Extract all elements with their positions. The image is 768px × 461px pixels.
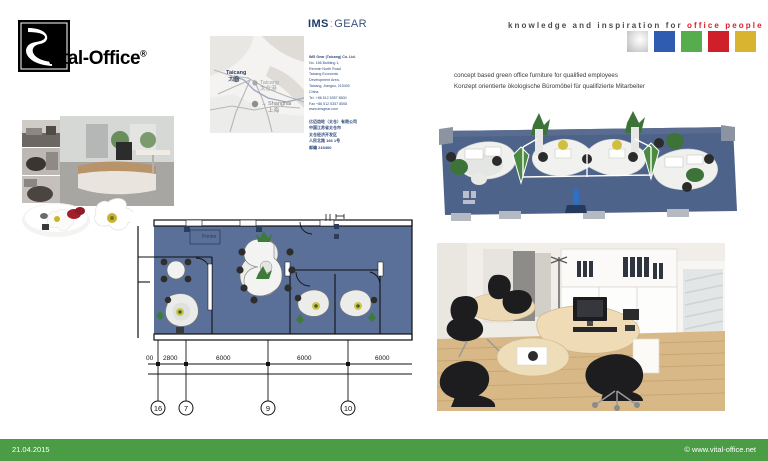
color-swatch-row	[627, 31, 756, 52]
concept-caption: concept based green office furniture for…	[454, 71, 645, 93]
grid-mark-9: 9	[266, 404, 270, 413]
office-3d-render	[437, 107, 747, 225]
map-label-secondary-cn: 太仓港	[260, 86, 277, 92]
logo-word-sub: Office	[89, 48, 140, 69]
collage-thumb-1	[22, 120, 60, 147]
concept-line-de: Konzept orientierte ökologische Büromöbe…	[454, 82, 645, 93]
address-cn-line-5: 邮编 215400	[309, 145, 375, 151]
ims-gear-logo: IMS:GEAR	[308, 18, 367, 30]
office-interior-photo	[437, 243, 725, 411]
registered-mark: ®	[140, 49, 146, 59]
floor-plan: Printer 00 2800 6000 6000 6	[130, 212, 418, 422]
organic-furniture-render	[22, 194, 142, 240]
footer-bar: 21.04.2015 © www.vital-office.net	[0, 439, 768, 461]
dimension-4: 6000	[375, 355, 390, 362]
vital-office-wordmark: Vital-Office®	[45, 48, 146, 70]
vital-office-logo: Vital-Office®	[18, 20, 136, 72]
footer-copyright[interactable]: © www.vital-office.net	[684, 445, 756, 454]
tagline-highlight: office people	[687, 21, 764, 30]
footer-date: 21.04.2015	[12, 445, 50, 454]
logo-word-main: Vital-	[45, 48, 89, 69]
photo-collage	[22, 112, 180, 224]
collage-thumb-2	[22, 148, 60, 175]
presentation-slide: Vital-Office® IMS:GEAR Taicang	[0, 0, 768, 461]
map-label-shanghai-cn: 上海	[268, 108, 279, 114]
map-label-shanghai: → Shanghai	[261, 101, 291, 107]
printer-label: Printer	[202, 234, 217, 240]
address-block-chinese: 亿迈齿轮（太仓）有限公司 中国江苏省太仓市 太仓经济开发区 人民北路 166 1…	[309, 119, 375, 151]
dimension-0: 00	[146, 355, 154, 362]
grid-mark-16: 16	[154, 404, 162, 413]
dimension-2: 6000	[216, 355, 231, 362]
concept-line-en: concept based green office furniture for…	[454, 71, 645, 82]
address-block-english: IMS Gear (Taicang) Co. Ltd. No. 166 Buil…	[309, 55, 375, 113]
collage-main-photo	[60, 116, 174, 206]
dimension-1: 2800	[163, 355, 178, 362]
tagline-text: knowledge and inspiration for	[508, 21, 687, 30]
tagline: knowledge and inspiration for office peo…	[508, 21, 764, 30]
swatch-metal	[627, 31, 648, 52]
ims-light: GEAR	[334, 18, 367, 30]
grid-mark-10: 10	[344, 404, 352, 413]
address-website[interactable]: www.imsgear.com	[309, 107, 375, 113]
location-map: Taicang 太仓 Taicang 太仓港 → Shanghai 上海	[210, 36, 304, 133]
swatch-green	[681, 31, 702, 52]
dimension-3: 6000	[297, 355, 312, 362]
swatch-red	[708, 31, 729, 52]
map-label-taicang-cn: 太仓	[228, 77, 240, 84]
ims-bold: IMS	[308, 18, 329, 30]
grid-mark-7: 7	[184, 404, 188, 413]
swatch-gold	[735, 31, 756, 52]
swatch-blue	[654, 31, 675, 52]
map-label-taicang: Taicang	[226, 70, 246, 76]
